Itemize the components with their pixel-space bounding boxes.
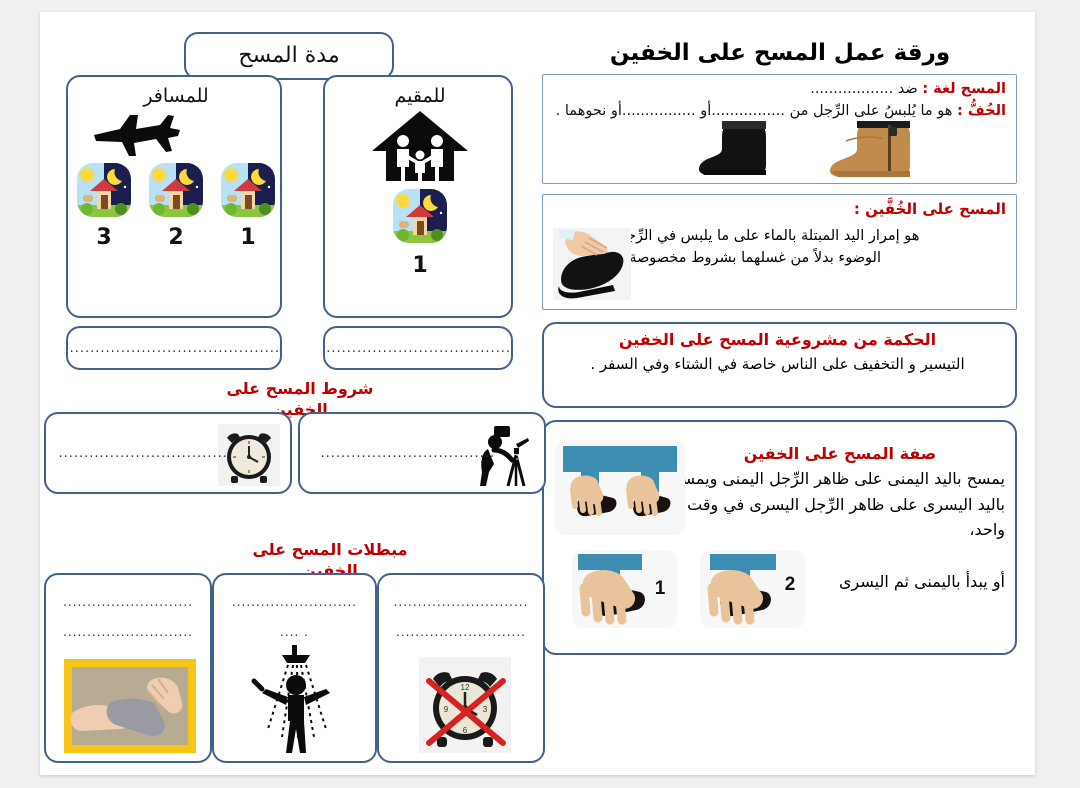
svg-text:6: 6 (463, 726, 468, 735)
day-night-house-icon (147, 161, 205, 219)
black-sock-photo (696, 115, 811, 177)
page-title: ورقة عمل المسح على الخفين (545, 40, 1015, 66)
definition-box: المسح لغة : ضد .................. الخُفُ… (542, 74, 1017, 184)
definition-line-1: المسح لغة : ضد .................. (551, 81, 1006, 97)
resident-day-1: 1 (325, 253, 515, 278)
crossed-alarm-clock-icon: 123 69 (419, 657, 511, 753)
wisdom-box: الحكمة من مشروعية المسح على الخفين التيس… (542, 322, 1017, 408)
condition-dots-2: ...................................... (320, 446, 495, 461)
nullifier-box-2[interactable]: .......................... . .... (212, 573, 377, 763)
nullifier-1-dots-2: ........................... (46, 625, 210, 639)
resident-answer-box[interactable]: ........................................… (323, 326, 513, 370)
worksheet-page: ورقة عمل المسح على الخفين المسح لغة : ضد… (40, 12, 1035, 775)
svg-text:9: 9 (444, 705, 449, 714)
traveler-answer-dots: ........................................… (68, 341, 280, 356)
wisdom-body: التيسير و التخفيف على الناس خاصة في الشت… (565, 353, 990, 376)
nullifier-3-dots-1: ............................ (379, 595, 543, 609)
traveler-day-2: 2 (147, 225, 205, 250)
resident-answer-dots: ........................................… (325, 341, 511, 356)
brown-leather-khuff-photo (826, 113, 941, 179)
hand-wipe-step-photo: 2 (700, 550, 805, 628)
traveler-day-1: 1 (219, 225, 277, 250)
wisdom-title: الحكمة من مشروعية المسح على الخفين (540, 330, 1015, 349)
condition-box-2[interactable]: ...................................... (298, 412, 546, 494)
day-night-house-icon (391, 187, 449, 245)
hand-wipe-step-photo: 1 (572, 550, 677, 628)
day-night-house-icon (219, 161, 277, 219)
traveler-box: للمسافر (66, 75, 282, 318)
method-body: يمسح باليد اليمنى على ظاهر الرِّجل اليمن… (670, 466, 1005, 543)
step-number-2: 2 (785, 574, 796, 595)
removing-sock-photo (64, 659, 196, 753)
duration-header-box: مدة المسح (184, 32, 394, 80)
nullifier-3-dots-2: ........................... (379, 625, 543, 639)
duration-header-label: مدة المسح (186, 34, 392, 78)
definition-term-1: المسح لغة : (922, 81, 1006, 97)
svg-text:12: 12 (461, 683, 470, 692)
nullifier-box-1[interactable]: ........................... ............… (44, 573, 212, 763)
nullifier-box-3[interactable]: ............................ ...........… (377, 573, 545, 763)
both-feet-wipe-photo (555, 440, 685, 535)
definition-term-2: الخُفُّ : (957, 103, 1006, 119)
method-title: صفة المسح على الخفين (675, 444, 1005, 463)
definition-term-1-rest: ضد .................. (810, 81, 918, 97)
nullifier-2-dots-2: . .... (214, 625, 375, 639)
nullifier-1-dots-1: ........................... (46, 595, 210, 609)
wiping-title: المسح على الخُفَّين : (551, 200, 1006, 218)
day-night-house-icon (75, 161, 133, 219)
svg-text:3: 3 (483, 705, 488, 714)
resident-label: للمقيم (325, 85, 515, 107)
traveler-label: للمسافر (68, 85, 284, 107)
wiping-definition-box: المسح على الخُفَّين : هو إمرار اليد المب… (542, 194, 1017, 310)
traveler-day-3: 3 (75, 225, 133, 250)
step-number-1: 1 (655, 578, 666, 599)
method-box: صفة المسح على الخفين يمسح باليد اليمنى ع… (542, 420, 1017, 655)
airplane-icon (90, 111, 182, 157)
condition-dots-1: ........................................… (58, 446, 233, 461)
condition-box-1[interactable]: ........................................… (44, 412, 292, 494)
resident-box: للمقيم (323, 75, 513, 318)
traveler-answer-box[interactable]: ........................................… (66, 326, 282, 370)
hand-wiping-black-sock-photo (553, 228, 631, 300)
family-house-icon (370, 109, 470, 184)
person-shower-icon (238, 645, 356, 757)
nullifier-2-dots-1: .......................... (214, 595, 375, 609)
